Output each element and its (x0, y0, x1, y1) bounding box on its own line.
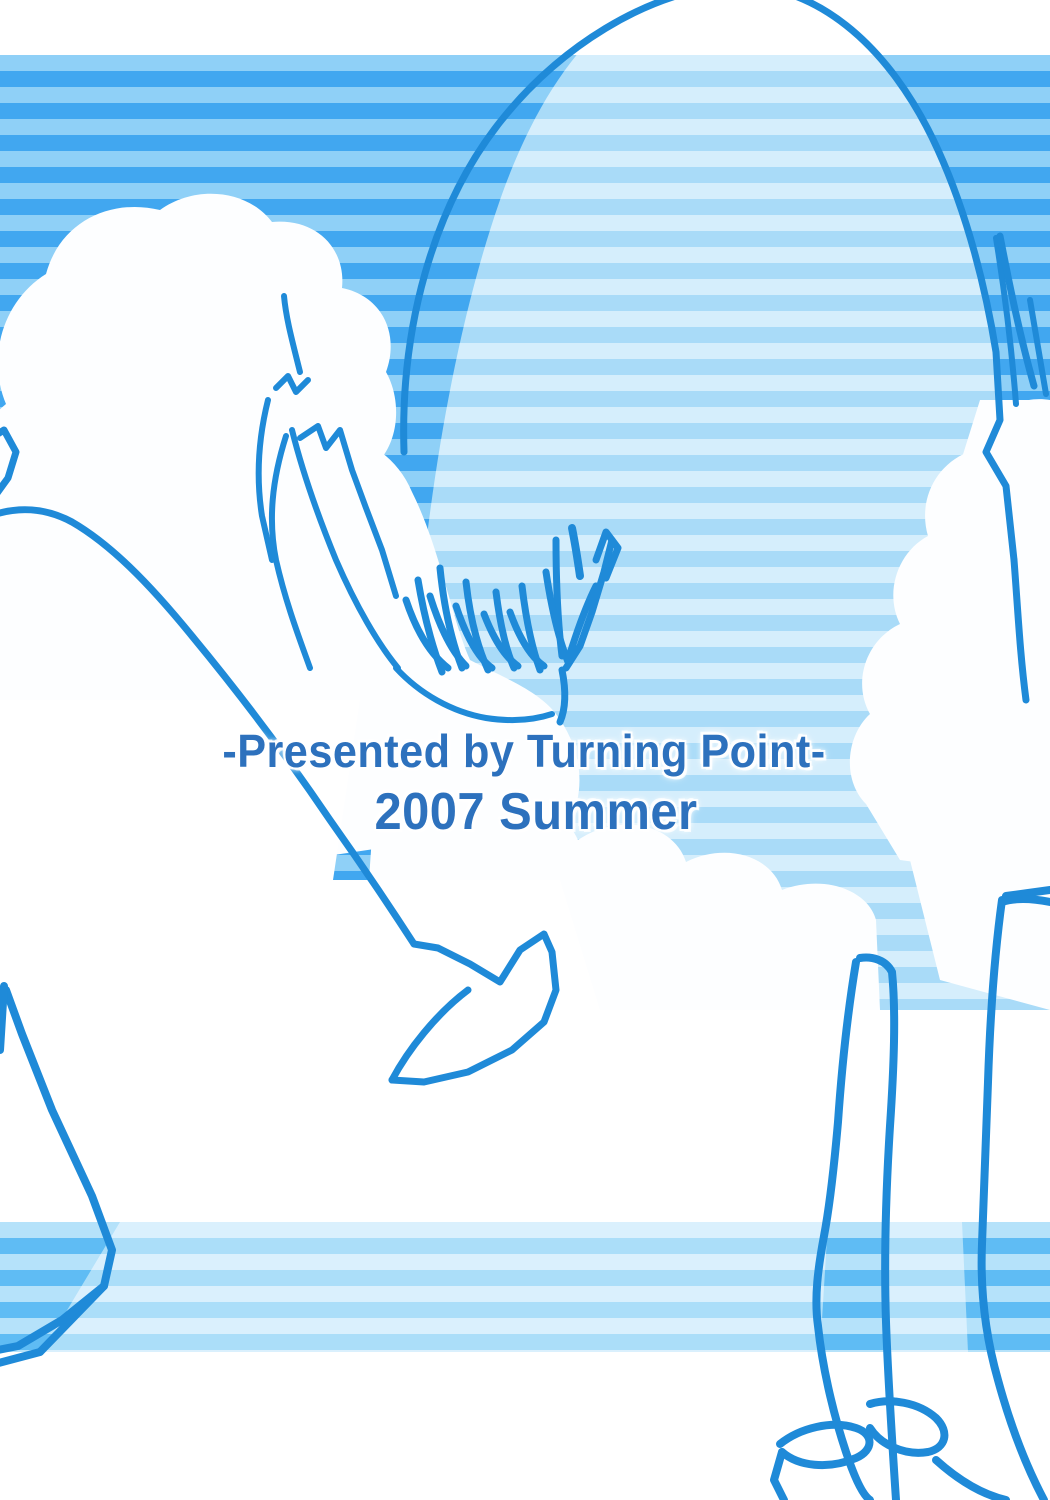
left-figure-leg-inner (0, 986, 4, 1050)
cover-artwork (0, 0, 1050, 1500)
back-cover-page: -Presented by Turning Point- 2007 Summer (0, 0, 1050, 1500)
bottom-band-body-fade (42, 1222, 1050, 1352)
right-figure-hip (1002, 899, 1050, 902)
bottom-band-gap-a (820, 1222, 888, 1352)
lower-stripe-band-overlay (0, 1222, 1050, 1352)
bottom-band-gap-b (962, 1222, 1050, 1352)
